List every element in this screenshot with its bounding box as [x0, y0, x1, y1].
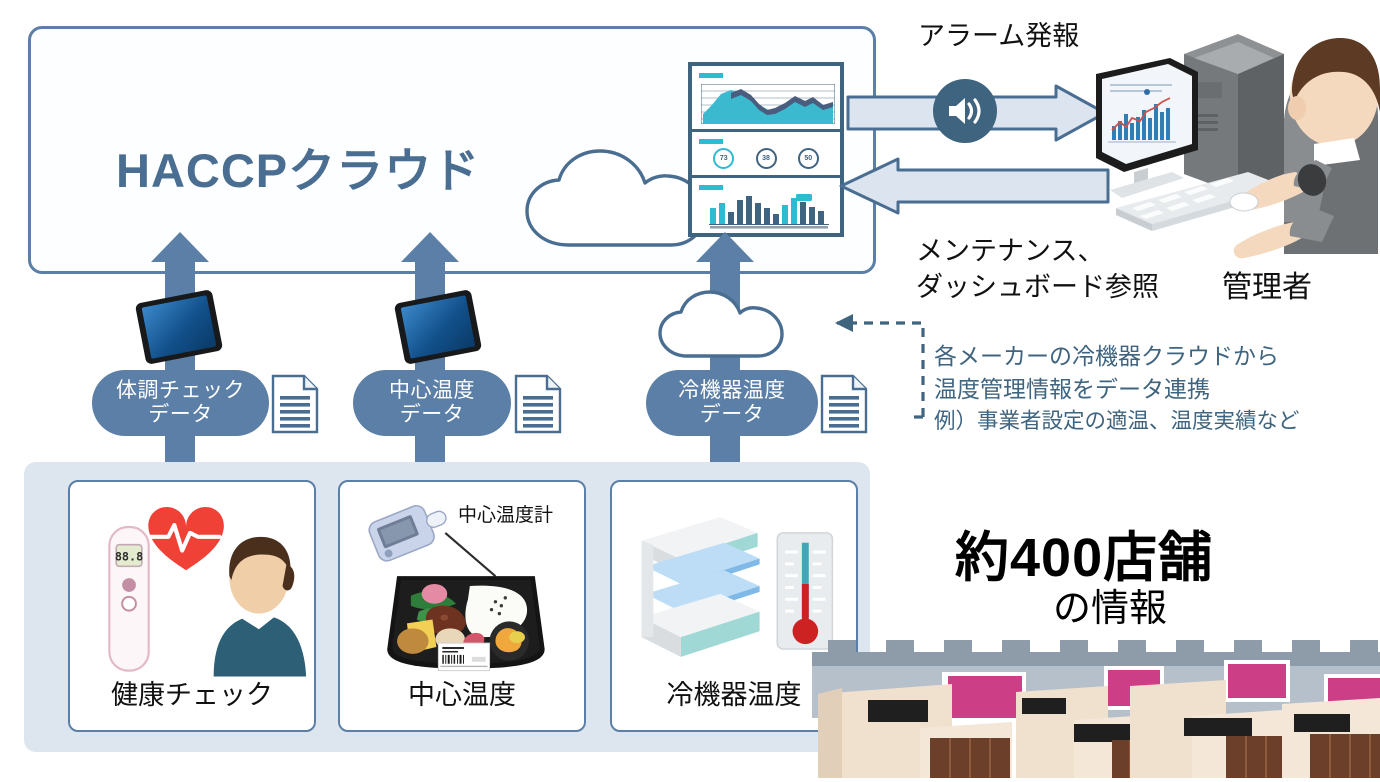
administrator-illustration	[1088, 22, 1380, 268]
pill-health-check-data: 体調チェック データ	[92, 370, 269, 436]
section-tick	[699, 139, 723, 144]
tablet-icon	[392, 290, 484, 364]
area-chart-icon	[701, 84, 835, 124]
speaker-icon	[933, 79, 997, 143]
maintenance-flow-arrow	[838, 157, 1110, 215]
card-core-temperature: 中心温度計	[338, 480, 586, 732]
annotation-line-3: 例）事業者設定の適温、温度実績など	[934, 406, 1300, 437]
card-title: 健康チェック	[70, 673, 314, 712]
pill-label-line1: 中心温度	[389, 379, 475, 403]
diagram-canvas: HACCPクラウド	[0, 0, 1380, 782]
card-health-check: 88.8 健康チェック	[68, 480, 316, 732]
card-title: 中心温度	[340, 673, 584, 712]
svg-text:88.8: 88.8	[115, 549, 143, 563]
section-tick	[699, 185, 723, 190]
up-arrow-fridge-temp	[696, 232, 754, 290]
administrator-label: 管理者	[1222, 262, 1312, 306]
forehead-thermometer-and-person-icon: 88.8	[70, 492, 314, 682]
pill-label-line2: データ	[148, 403, 213, 427]
convenience-stores-illustration	[812, 614, 1380, 782]
pill-label-line1: 冷機器温度	[678, 379, 786, 403]
pill-label-line2: データ	[400, 403, 465, 427]
annotation-line-1: 各メーカーの冷機器クラウドから	[934, 340, 1300, 373]
annotation-line-2: 温度管理情報をデータ連携	[934, 373, 1300, 406]
up-arrow-health	[151, 232, 209, 290]
alarm-label: アラーム発報	[918, 14, 1079, 53]
maintenance-label-line2: ダッシュボード参照	[916, 270, 1159, 306]
page-title: HACCPクラウド	[116, 132, 480, 201]
dashboard-gauges-section: 73 38 50	[692, 132, 840, 178]
cloud-icon	[655, 290, 795, 358]
pill-label-line1: 体調チェック	[116, 379, 245, 403]
pill-core-temperature-data: 中心温度 データ	[353, 370, 511, 436]
document-icon	[820, 374, 868, 434]
dashboard-area-chart-section	[692, 66, 840, 132]
document-icon	[514, 374, 562, 434]
gauge-3: 50	[798, 148, 819, 169]
dashboard-panel: 73 38 50	[688, 62, 844, 237]
tablet-icon	[133, 290, 225, 364]
data-link-annotation: 各メーカーの冷機器クラウドから 温度管理情報をデータ連携 例）事業者設定の適温、…	[934, 340, 1300, 437]
bar-chart-icon	[708, 194, 830, 230]
gauge-1: 73	[713, 148, 734, 169]
bento-box-and-probe-thermometer-icon	[340, 492, 584, 682]
pill-label-line2: データ	[700, 403, 765, 427]
pill-fridge-temperature-data: 冷機器温度 データ	[646, 370, 818, 436]
gauge-2: 38	[756, 148, 777, 169]
section-tick	[699, 73, 723, 78]
document-icon	[271, 374, 319, 434]
up-arrow-core-temp	[401, 232, 459, 290]
dashboard-bar-chart-section	[692, 178, 840, 234]
